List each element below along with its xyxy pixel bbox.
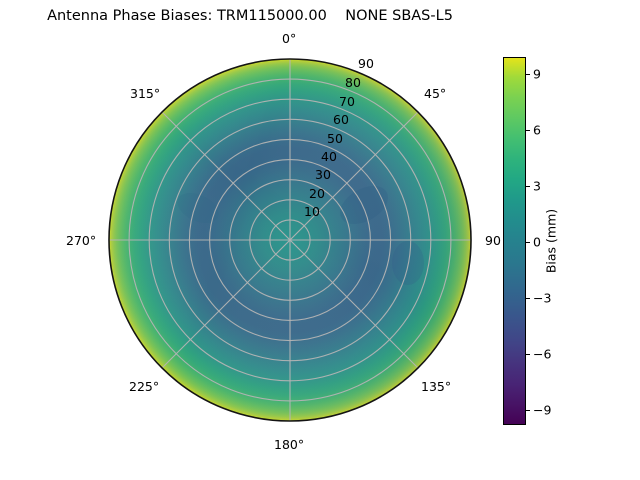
azimuth-label-270: 270° — [66, 233, 96, 248]
colorbar-ticklabel-neg9: −9 — [533, 403, 551, 418]
colorbar-tickmark-neg6 — [526, 354, 530, 355]
radial-label-40: 40 — [318, 149, 340, 164]
polar-axes[interactable] — [108, 58, 472, 422]
azimuth-label-45: 45° — [424, 86, 446, 101]
radial-label-70: 70 — [336, 94, 358, 109]
colorbar-axis-label: Bias (mm) — [544, 209, 559, 273]
colorbar[interactable]: 9 6 3 0 −3 −6 −9 — [503, 57, 526, 425]
page-title: Antenna Phase Biases: TRM115000.00 NONE … — [0, 8, 500, 24]
colorbar-ticklabel-6: 6 — [533, 123, 541, 138]
azimuth-label-0: 0° — [282, 31, 296, 46]
colorbar-tickmark-0 — [526, 242, 530, 243]
colorbar-ticklabel-neg3: −3 — [533, 291, 551, 306]
azimuth-label-135: 135° — [421, 379, 451, 394]
azimuth-label-180: 180° — [274, 437, 304, 452]
azimuth-label-315: 315° — [130, 86, 160, 101]
colorbar-tickmark-neg9 — [526, 410, 530, 411]
colorbar-ticklabel-9: 9 — [533, 67, 541, 82]
colorbar-tickmark-9 — [526, 74, 530, 75]
colorbar-ticklabel-0: 0 — [533, 235, 541, 250]
azimuth-label-90: 90 — [485, 233, 501, 248]
radial-label-80: 80 — [342, 75, 364, 90]
radial-label-50: 50 — [324, 131, 346, 146]
radial-label-30: 30 — [312, 167, 334, 182]
angular-gridlines — [109, 59, 471, 421]
radial-label-90: 90 — [355, 56, 377, 71]
radial-label-10: 10 — [301, 204, 323, 219]
colorbar-ticklabel-neg6: −6 — [533, 347, 551, 362]
polar-heatmap — [108, 58, 472, 422]
colorbar-tickmark-neg3 — [526, 298, 530, 299]
colorbar-tickmark-6 — [526, 130, 530, 131]
radial-label-20: 20 — [306, 186, 328, 201]
colorbar-ticklabel-3: 3 — [533, 179, 541, 194]
colorbar-gradient — [503, 57, 526, 425]
figure-canvas: Antenna Phase Biases: TRM115000.00 NONE … — [0, 0, 640, 480]
colorbar-tickmark-3 — [526, 186, 530, 187]
radial-label-60: 60 — [330, 112, 352, 127]
azimuth-label-225: 225° — [129, 379, 159, 394]
